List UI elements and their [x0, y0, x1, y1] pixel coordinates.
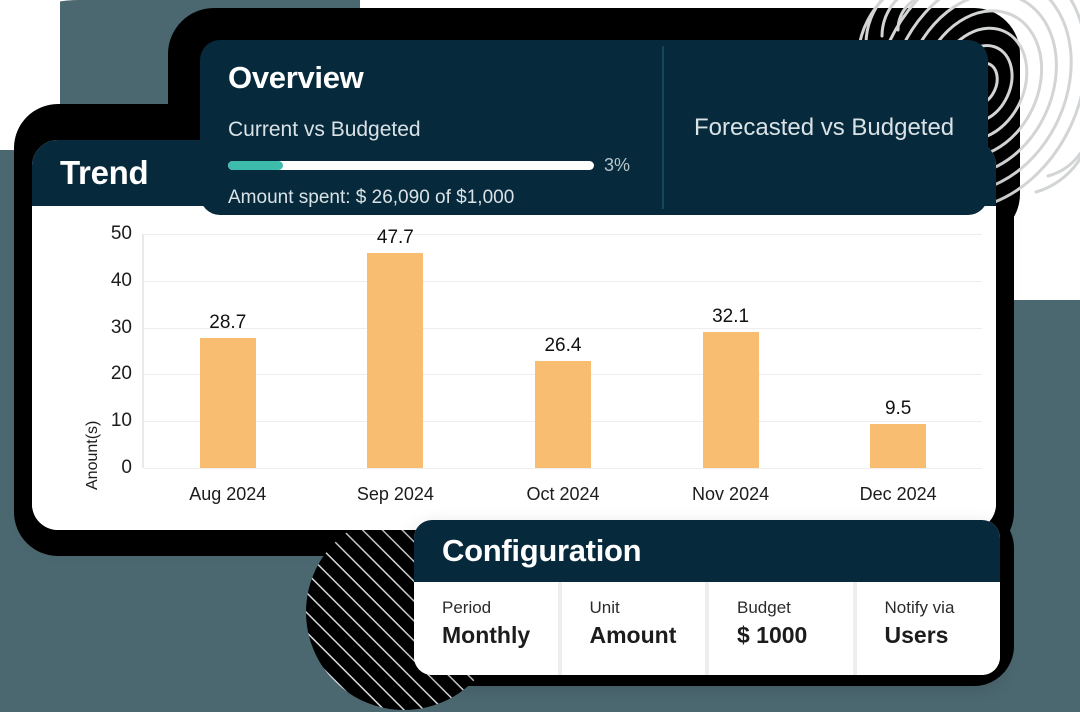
chart-bar-value-label: 28.7: [209, 312, 246, 334]
config-field-budget[interactable]: Budget$ 1000: [705, 582, 853, 675]
chart-bar-value-label: 26.4: [544, 335, 581, 357]
chart-bar[interactable]: [367, 253, 423, 468]
overview-progress-row: 3%: [228, 155, 662, 176]
overview-forecast-section: Forecasted vs Budgeted: [664, 40, 988, 215]
chart-bar-group[interactable]: 47.7Sep 2024: [312, 234, 480, 468]
chart-gridline: 0: [144, 468, 982, 469]
overview-current-subtitle: Current vs Budgeted: [228, 118, 662, 142]
chart-plot-area: 0102030405028.7Aug 202447.7Sep 202426.4O…: [142, 234, 982, 468]
chart-x-tick-label: Nov 2024: [692, 484, 769, 505]
config-field-value: Monthly: [442, 622, 558, 649]
config-field-label: Unit: [590, 598, 706, 618]
config-field-value: $ 1000: [737, 622, 853, 649]
config-field-unit[interactable]: UnitAmount: [558, 582, 706, 675]
chart-y-tick-label: 0: [121, 457, 132, 479]
config-field-value: Amount: [590, 622, 706, 649]
chart-bar-value-label: 32.1: [712, 306, 749, 328]
chart-bar-value-label: 9.5: [885, 398, 911, 420]
chart-y-tick-label: 10: [111, 410, 132, 432]
config-field-notify-via[interactable]: Notify viaUsers: [853, 582, 1001, 675]
chart-bar-group[interactable]: 26.4Oct 2024: [479, 234, 647, 468]
amount-spent-text: Amount spent: $ 26,090 of $1,000: [228, 187, 662, 209]
chart-y-tick-label: 40: [111, 270, 132, 292]
budget-progress-percent: 3%: [604, 155, 630, 176]
config-field-label: Period: [442, 598, 558, 618]
chart-y-axis-label: Anount(s): [84, 421, 102, 490]
chart-x-tick-label: Sep 2024: [357, 484, 434, 505]
overview-forecast-title: Forecasted vs Budgeted: [694, 114, 954, 142]
budget-progress-bar[interactable]: [228, 161, 594, 170]
overview-panel: Overview Current vs Budgeted 3% Amount s…: [200, 40, 988, 215]
chart-bars: 28.7Aug 202447.7Sep 202426.4Oct 202432.1…: [144, 234, 982, 468]
config-field-period[interactable]: PeriodMonthly: [414, 582, 558, 675]
chart-y-tick-label: 20: [111, 363, 132, 385]
chart-y-tick-label: 50: [111, 223, 132, 245]
chart-bar-group[interactable]: 32.1Nov 2024: [647, 234, 815, 468]
chart-x-tick-label: Aug 2024: [189, 484, 266, 505]
chart-bar-group[interactable]: 28.7Aug 2024: [144, 234, 312, 468]
trend-title: Trend: [60, 154, 148, 192]
chart-y-tick-label: 30: [111, 317, 132, 339]
chart-x-tick-label: Dec 2024: [860, 484, 937, 505]
trend-body: Anount(s) 0102030405028.7Aug 202447.7Sep…: [32, 206, 996, 530]
chart-bar[interactable]: [535, 361, 591, 468]
budget-progress-fill: [228, 161, 283, 170]
configuration-body: PeriodMonthlyUnitAmountBudget$ 1000Notif…: [414, 582, 1000, 675]
configuration-card: Configuration PeriodMonthlyUnitAmountBud…: [414, 520, 1000, 675]
config-field-value: Users: [885, 622, 1001, 649]
chart-bar[interactable]: [870, 424, 926, 468]
chart-bar-group[interactable]: 9.5Dec 2024: [814, 234, 982, 468]
chart-bar[interactable]: [200, 338, 256, 468]
bar-chart: Anount(s) 0102030405028.7Aug 202447.7Sep…: [32, 206, 996, 530]
chart-bar-value-label: 47.7: [377, 227, 414, 249]
config-field-label: Budget: [737, 598, 853, 618]
config-field-label: Notify via: [885, 598, 1001, 618]
configuration-header: Configuration: [414, 520, 1000, 582]
overview-title: Overview: [228, 60, 662, 96]
page-root: Trend Anount(s) 0102030405028.7Aug 20244…: [0, 0, 1080, 712]
overview-current-section: Overview Current vs Budgeted 3% Amount s…: [200, 40, 662, 215]
configuration-title: Configuration: [442, 533, 641, 569]
chart-bar[interactable]: [703, 332, 759, 468]
chart-x-tick-label: Oct 2024: [526, 484, 599, 505]
